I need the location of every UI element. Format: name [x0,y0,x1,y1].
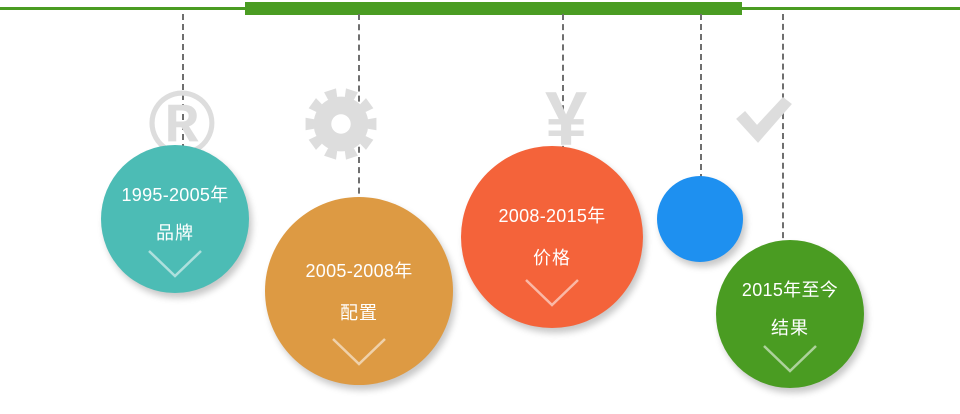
chevron-down-icon [147,249,203,279]
node-date: 2005-2008年 [305,257,412,283]
infographic-timeline-canvas: ® ¥ 1995-2005年 品牌 2005-2008年 配置 2008-201… [0,0,960,414]
node-label: 配置 [340,299,378,325]
node-date: 2015年至今 [742,276,838,302]
timeline-node-blank[interactable] [657,176,743,262]
timeline-node-price[interactable]: 2008-2015年 价格 [461,146,643,328]
timeline-rail-highlight [245,2,742,15]
checkmark-icon [733,95,795,150]
chevron-down-icon [524,278,580,308]
timeline-node-brand[interactable]: 1995-2005年 品牌 [101,145,249,293]
node-label: 品牌 [156,219,194,245]
dropper-4 [700,14,702,180]
chevron-down-icon [762,344,818,374]
gear-icon [305,88,377,164]
node-label: 价格 [533,244,571,270]
node-date: 1995-2005年 [121,181,228,207]
node-label: 结果 [771,314,809,340]
node-date: 2008-2015年 [498,202,605,228]
chevron-down-icon [331,337,387,367]
timeline-node-result[interactable]: 2015年至今 结果 [716,240,864,388]
timeline-node-configuration[interactable]: 2005-2008年 配置 [265,197,453,385]
